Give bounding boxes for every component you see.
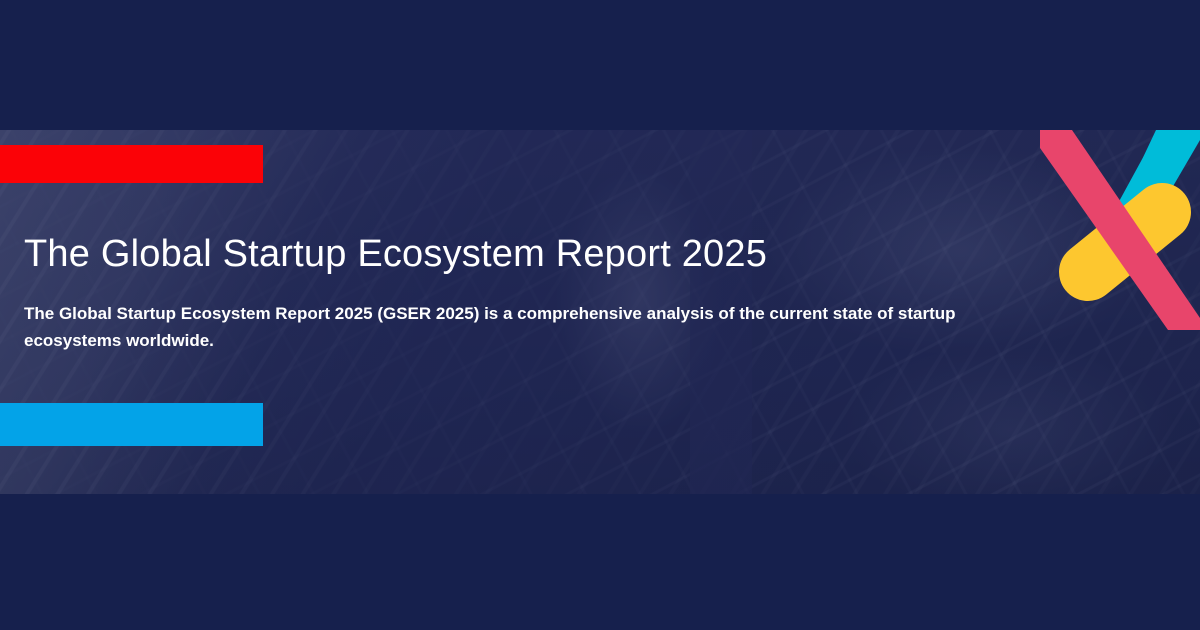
og-share-card: The Global Startup Ecosystem Report 2025…: [0, 0, 1200, 630]
page-title: The Global Startup Ecosystem Report 2025: [24, 232, 1024, 278]
page-description: The Global Startup Ecosystem Report 2025…: [24, 300, 1009, 355]
blue-accent-bar: [0, 403, 263, 446]
red-accent-bar: [0, 145, 263, 183]
hero-text-block: The Global Startup Ecosystem Report 2025…: [24, 232, 1024, 355]
